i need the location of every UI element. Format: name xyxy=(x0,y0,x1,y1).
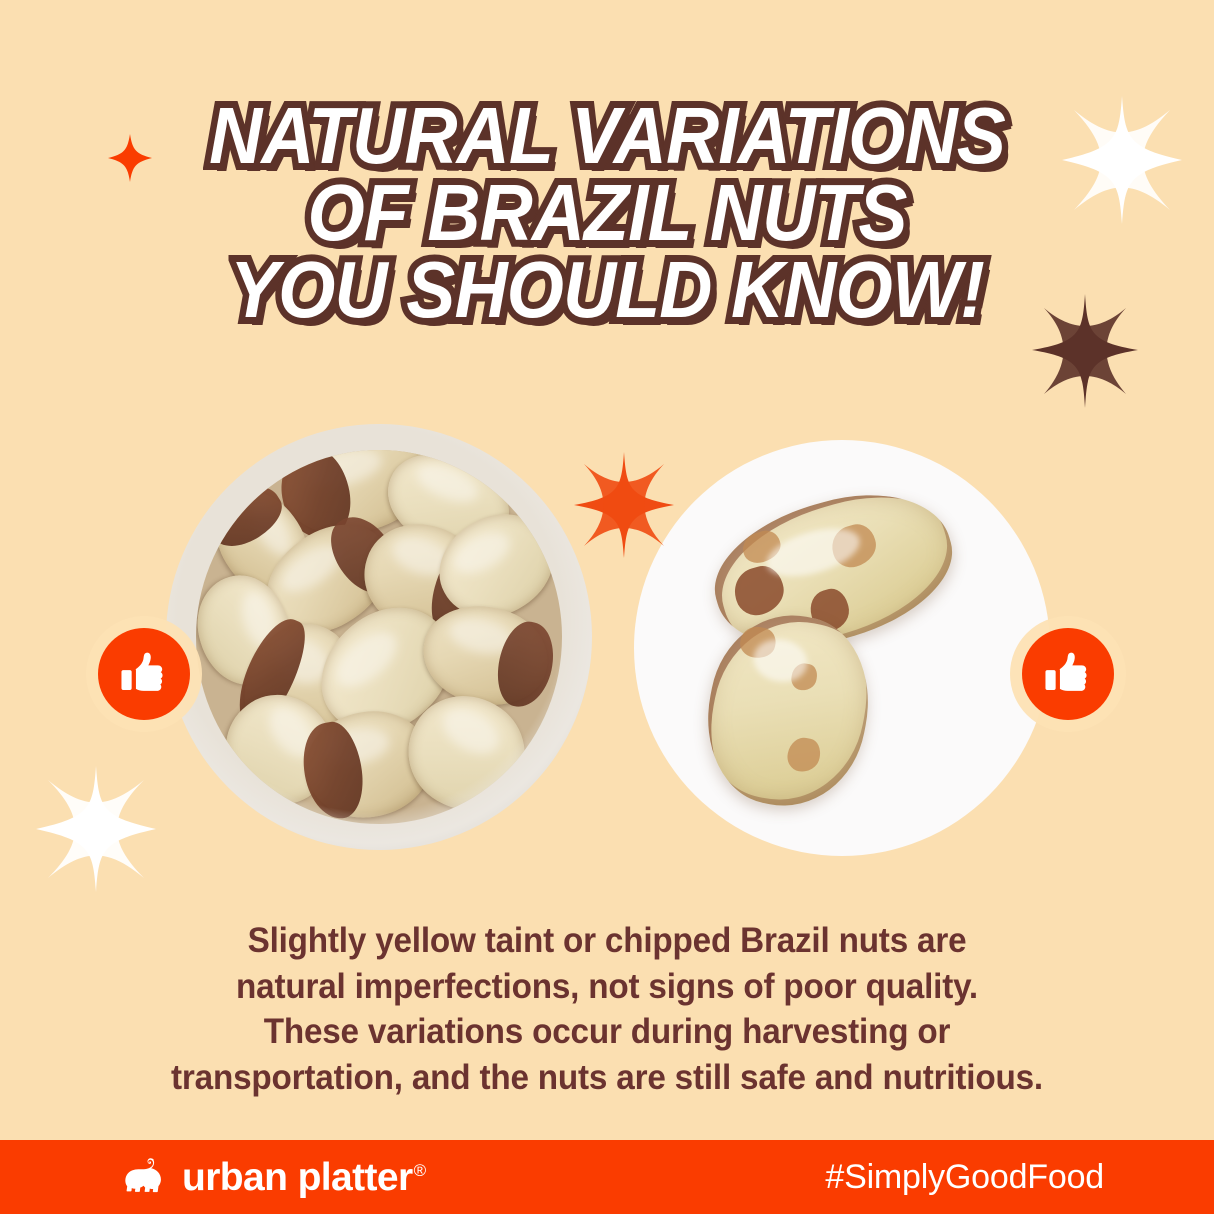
headline-line-2: OF BRAZIL NUTS xyxy=(49,175,1166,252)
photo-two-brazil-nuts xyxy=(634,440,1050,856)
body-line-2: natural imperfections, not signs of poor… xyxy=(30,964,1183,1010)
thumbs-up-icon xyxy=(1042,648,1094,700)
headline-line-3: YOU SHOULD KNOW! xyxy=(49,252,1166,329)
elephant-icon xyxy=(118,1155,168,1199)
thumbs-up-badge-right[interactable] xyxy=(1022,628,1114,720)
thumbs-up-icon xyxy=(118,648,170,700)
body-line-4: transportation, and the nuts are still s… xyxy=(30,1055,1183,1101)
footer-hashtag: #SimplyGoodFood xyxy=(825,1160,1104,1194)
brand-name-text: urban platter xyxy=(182,1156,413,1199)
brand-lockup[interactable]: urban platter® xyxy=(118,1155,426,1199)
poster-canvas: NATURAL VARIATIONS OF BRAZIL NUTS YOU SH… xyxy=(0,0,1214,1214)
poster-headline: NATURAL VARIATIONS OF BRAZIL NUTS YOU SH… xyxy=(0,98,1214,328)
registered-mark: ® xyxy=(414,1161,426,1180)
body-copy: Slightly yellow taint or chipped Brazil … xyxy=(30,918,1183,1100)
body-line-3: These variations occur during harvesting… xyxy=(30,1009,1183,1055)
headline-line-1: NATURAL VARIATIONS xyxy=(49,98,1166,175)
body-line-1: Slightly yellow taint or chipped Brazil … xyxy=(30,918,1183,964)
footer-bar: urban platter® #SimplyGoodFood xyxy=(0,1140,1214,1214)
brand-name: urban platter® xyxy=(182,1158,426,1197)
jar-interior xyxy=(196,450,562,825)
photo-jar-of-brazil-nuts xyxy=(166,424,592,850)
thumbs-up-badge-left[interactable] xyxy=(98,628,190,720)
